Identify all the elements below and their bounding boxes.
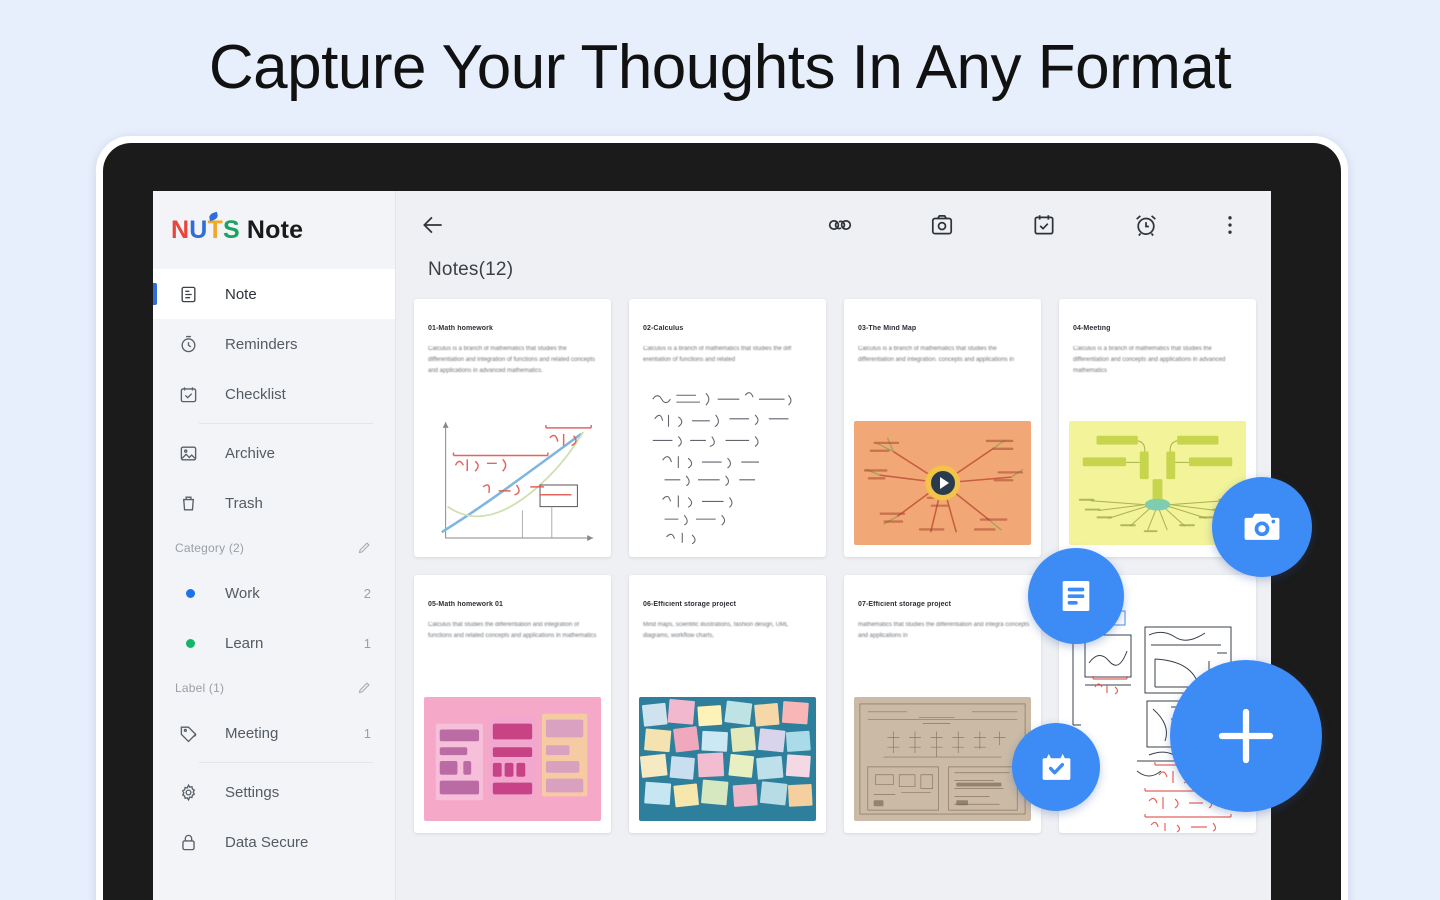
- sidebar-item-count: 2: [364, 586, 371, 601]
- category-section-header: Category (2): [153, 528, 395, 568]
- note-card[interactable]: 01-Math homework Calculus is a branch of…: [414, 299, 611, 557]
- note-title: 01-Math homework: [428, 325, 601, 332]
- sidebar-item-label: Checklist: [225, 386, 286, 403]
- note-thumbnail: [424, 407, 601, 557]
- note-card[interactable]: 02-Calculus Calculus is a branch of math…: [629, 299, 826, 557]
- sidebar-item-count: 1: [364, 726, 371, 741]
- note-thumbnail: [639, 384, 816, 557]
- checklist-icon: [177, 383, 199, 405]
- notes-panel: Notes(12) 01-Math homework Calculus is a…: [396, 191, 1271, 900]
- gear-icon: [177, 781, 199, 803]
- note-body: Calculus is a branch of mathematics that…: [858, 344, 1031, 366]
- note-title: 06-Efficient storage project: [643, 601, 816, 608]
- note-body: Calculus is a branch of mathematics that…: [1073, 344, 1246, 377]
- sidebar-item-label: Meeting: [225, 725, 278, 742]
- note-title: 05-Math homework 01: [428, 601, 601, 608]
- sidebar-item-settings[interactable]: Settings: [153, 767, 395, 817]
- app-logo: NUTSNote: [153, 191, 395, 269]
- logo-letter-s: S: [223, 216, 240, 244]
- tag-icon: [177, 722, 199, 744]
- page-root: Capture Your Thoughts In Any Format NUTS…: [0, 0, 1440, 900]
- sidebar-label-meeting[interactable]: Meeting 1: [153, 708, 395, 758]
- fab-add[interactable]: [1170, 660, 1322, 812]
- logo-word-note: Note: [247, 216, 303, 244]
- sidebar-item-trash[interactable]: Trash: [153, 478, 395, 528]
- sidebar-item-label: Archive: [225, 445, 275, 462]
- note-card[interactable]: 07-Efficient storage project mathematics…: [844, 575, 1041, 833]
- category-color-dot: [177, 632, 199, 654]
- tablet-device-frame: NUTSNote Note Reminders: [96, 136, 1348, 900]
- logo-letter-u: U: [189, 216, 207, 244]
- link-icon[interactable]: [825, 210, 855, 240]
- notes-count-header: Notes(12): [396, 259, 1271, 291]
- note-thumbnail: [639, 697, 816, 821]
- checklist-icon: [1038, 749, 1075, 786]
- pencil-icon[interactable]: [357, 680, 373, 696]
- sidebar-item-note[interactable]: Note: [153, 269, 395, 319]
- more-vertical-icon[interactable]: [1215, 210, 1245, 240]
- page-title: Capture Your Thoughts In Any Format: [0, 32, 1440, 103]
- sidebar-item-label: Work: [225, 585, 260, 602]
- divider: [199, 423, 373, 424]
- fab-new-note[interactable]: [1028, 548, 1124, 644]
- archive-icon: [177, 442, 199, 464]
- label-section-title: Label (1): [175, 681, 224, 695]
- note-body: Calculus is a branch of mathematics that…: [428, 344, 601, 377]
- category-section-title: Category (2): [175, 541, 244, 555]
- play-button-icon[interactable]: [926, 466, 960, 500]
- note-icon: [177, 283, 199, 305]
- sidebar-item-archive[interactable]: Archive: [153, 428, 395, 478]
- note-body: Calculus that studies the differentiatio…: [428, 620, 601, 642]
- app-screen: NUTSNote Note Reminders: [153, 191, 1271, 900]
- pencil-icon[interactable]: [357, 540, 373, 556]
- checklist-icon[interactable]: [1029, 210, 1059, 240]
- app-toolbar: [396, 191, 1271, 259]
- note-title: 07-Efficient storage project: [858, 601, 1031, 608]
- logo-letter-n: N: [171, 216, 189, 244]
- back-arrow-icon[interactable]: [418, 210, 448, 240]
- note-card[interactable]: 05-Math homework 01 Calculus that studie…: [414, 575, 611, 833]
- sidebar-item-label: Data Secure: [225, 834, 308, 851]
- sidebar-item-label: Reminders: [225, 336, 298, 353]
- document-icon: [1056, 576, 1096, 616]
- note-card[interactable]: 06-Efficient storage project Mind maps, …: [629, 575, 826, 833]
- tablet-bezel: NUTSNote Note Reminders: [103, 143, 1341, 900]
- note-thumbnail: [854, 697, 1031, 821]
- sidebar-item-label: Note: [225, 286, 257, 303]
- divider: [199, 762, 373, 763]
- trash-icon: [177, 492, 199, 514]
- sidebar-item-checklist[interactable]: Checklist: [153, 369, 395, 419]
- plus-icon: [1210, 700, 1282, 772]
- alarm-clock-icon[interactable]: [1131, 210, 1161, 240]
- reminder-icon: [177, 333, 199, 355]
- sidebar-item-count: 1: [364, 636, 371, 651]
- sidebar-item-data-secure[interactable]: Data Secure: [153, 817, 395, 867]
- note-thumbnail: [424, 697, 601, 821]
- note-title: 03-The Mind Map: [858, 325, 1031, 332]
- note-title: 04-Meeting: [1073, 325, 1246, 332]
- note-card[interactable]: 03-The Mind Map Calculus is a branch of …: [844, 299, 1041, 557]
- fab-new-photo[interactable]: [1212, 477, 1312, 577]
- category-color-dot: [177, 582, 199, 604]
- sidebar-category-learn[interactable]: Learn 1: [153, 618, 395, 668]
- sidebar-category-work[interactable]: Work 2: [153, 568, 395, 618]
- lock-icon: [177, 831, 199, 853]
- camera-icon[interactable]: [927, 210, 957, 240]
- note-body: Calculus is a branch of mathematics that…: [643, 344, 816, 366]
- sidebar-item-reminders[interactable]: Reminders: [153, 319, 395, 369]
- fab-new-checklist[interactable]: [1012, 723, 1100, 811]
- note-body: Mind maps, scientific illustrations, fas…: [643, 620, 816, 642]
- label-section-header: Label (1): [153, 668, 395, 708]
- camera-icon: [1240, 505, 1284, 549]
- sidebar-item-label: Trash: [225, 495, 263, 512]
- sidebar-item-label: Settings: [225, 784, 279, 801]
- note-title: 02-Calculus: [643, 325, 816, 332]
- note-thumbnail: [854, 421, 1031, 545]
- notes-grid: 01-Math homework Calculus is a branch of…: [396, 291, 1271, 833]
- note-body: mathematics that studies the differentia…: [858, 620, 1031, 642]
- sidebar: NUTSNote Note Reminders: [153, 191, 396, 900]
- sidebar-item-label: Learn: [225, 635, 263, 652]
